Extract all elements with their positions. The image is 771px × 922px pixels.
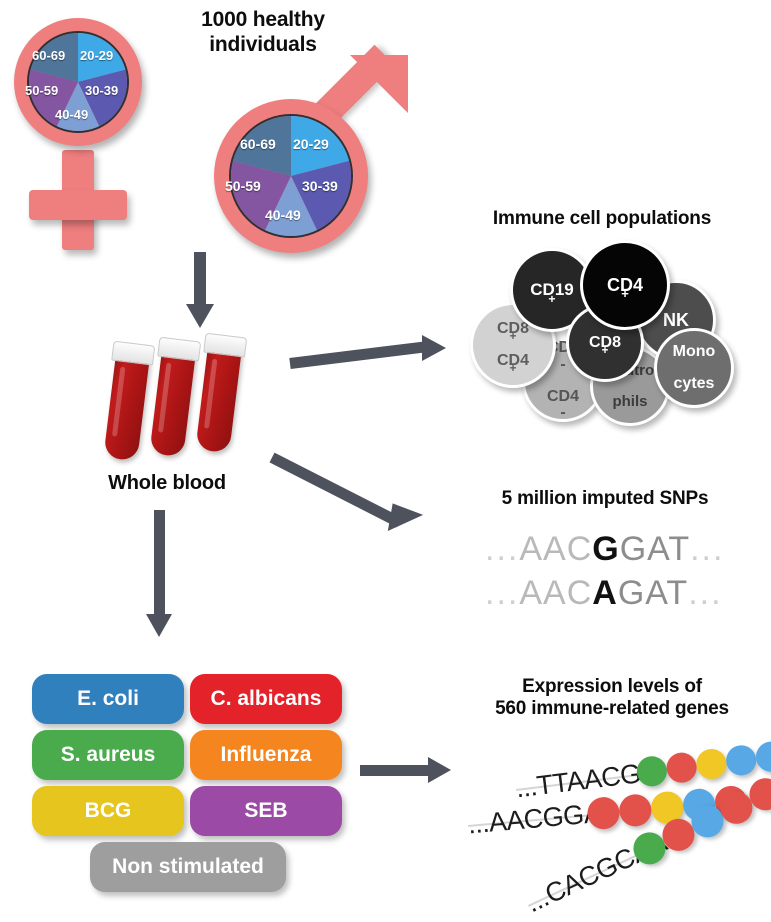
arrow-cohort-to-blood — [183, 252, 217, 328]
arrow-blood-to-snps — [272, 450, 462, 550]
cell-label-line2: CD4- — [547, 389, 579, 422]
cell-label-line1: Mono — [673, 344, 716, 360]
arrow-blood-to-stimuli — [140, 510, 180, 640]
pie-label-30-39: 30-39 — [85, 83, 118, 98]
cell-label: NK — [663, 311, 689, 329]
rna-bead — [618, 793, 653, 828]
figure-canvas: 1000 healthy individuals 20-29 30-39 40-… — [0, 0, 771, 922]
snp-trailing-ellipsis: ... — [690, 530, 724, 568]
blood-tube-body — [103, 354, 149, 461]
cell-label: CD19+ — [530, 281, 573, 298]
arrow-head — [422, 335, 446, 361]
pie-label-30-39: 30-39 — [302, 178, 338, 194]
stimulus-label: S. aureus — [61, 743, 156, 767]
strand-ellipsis: ... — [467, 808, 491, 840]
snp-trailing-ellipsis: ... — [688, 574, 722, 612]
pie-label-20-29: 20-29 — [293, 136, 329, 152]
arrow-head — [186, 304, 214, 328]
stimulus-box-seb[interactable]: SEB — [190, 786, 342, 836]
cell-circle-cd4: CD4+ — [580, 240, 670, 330]
stimulus-label: E. coli — [77, 687, 139, 711]
pie-label-40-49: 40-49 — [265, 207, 301, 223]
arrow-stimuli-to-expression — [360, 755, 470, 795]
stimulus-box-non-stimulated[interactable]: Non stimulated — [90, 842, 286, 892]
blood-tube-body — [149, 350, 195, 457]
pie-label-20-29: 20-29 — [80, 48, 113, 63]
whole-blood-tubes — [110, 340, 270, 470]
pie-label-60-69: 60-69 — [32, 48, 65, 63]
pie-label-40-49: 40-49 — [55, 107, 88, 122]
rna-bead — [695, 747, 728, 780]
snp-prefix: AAC — [519, 530, 592, 568]
rna-bead — [754, 740, 771, 773]
snps-section-title: 5 million imputed SNPs — [460, 488, 750, 510]
snp-prefix: AAC — [519, 574, 592, 612]
whole-blood-label: Whole blood — [72, 472, 262, 496]
snp-sequence-block: ...AACGGAT... ...AACAGAT... — [485, 530, 735, 620]
male-gender-symbol: 20-29 30-39 40-49 50-59 60-69 — [200, 55, 430, 255]
cell-label: CD4+ — [607, 276, 643, 294]
blood-tube-highlight — [112, 367, 125, 437]
stimuli-panel: E. coli C. albicans S. aureus Influenza … — [32, 674, 352, 900]
expression-section-title: Expression levels of 560 immune-related … — [462, 676, 762, 721]
immune-cell-cluster: CD19+ CD4+ CD8+ CD4+ CD8+ NK CD8- CD4- — [462, 240, 762, 410]
pie-label-50-59: 50-59 — [225, 178, 261, 194]
snp-suffix: GAT — [620, 530, 690, 568]
arrow-shaft — [360, 765, 432, 776]
cell-label-line2: phils — [606, 394, 654, 409]
title-line-1: 1000 healthy — [178, 8, 348, 33]
stimulus-label: SEB — [244, 799, 287, 823]
snp-leading-ellipsis: ... — [485, 574, 519, 612]
pie-label-50-59: 50-59 — [25, 83, 58, 98]
female-gender-symbol: 20-29 30-39 40-49 50-59 60-69 — [0, 10, 190, 260]
cell-label: Mono cytes — [673, 344, 716, 393]
blood-tube-body — [195, 346, 241, 453]
pie-label-60-69: 60-69 — [240, 136, 276, 152]
snp-sequence-row: ...AACGGAT... — [485, 530, 724, 569]
stimulus-label: BCG — [85, 799, 132, 823]
blood-tube-highlight — [204, 359, 217, 429]
snp-allele: G — [592, 530, 619, 568]
stimulus-label: Non stimulated — [112, 855, 264, 879]
arrow-shaft — [270, 453, 402, 528]
immune-section-title: Immune cell populations — [452, 208, 752, 230]
title-line-2: individuals — [178, 33, 348, 58]
arrow-head — [428, 757, 451, 783]
stimulus-box-influenza[interactable]: Influenza — [190, 730, 342, 780]
stimulus-box-s-aureus[interactable]: S. aureus — [32, 730, 184, 780]
rna-bead — [665, 751, 698, 784]
stimulus-box-c-albicans[interactable]: C. albicans — [190, 674, 342, 724]
arrow-head — [388, 503, 424, 536]
cell-label: CD8+ — [589, 335, 621, 351]
expression-title-line-2: 560 immune-related genes — [462, 698, 762, 720]
arrow-head — [146, 614, 172, 637]
expression-title-line-1: Expression levels of — [462, 676, 762, 698]
cell-label-line2: CD4+ — [497, 353, 529, 369]
cell-label-line2: cytes — [673, 376, 716, 392]
cell-label: CD8+ CD4+ — [497, 321, 529, 370]
stimulus-label: Influenza — [220, 743, 311, 767]
snp-sequence-row: ...AACAGAT... — [485, 574, 723, 613]
cell-circle-monocytes: Mono cytes — [654, 328, 734, 408]
stimulus-box-bcg[interactable]: BCG — [32, 786, 184, 836]
stimulus-label: C. albicans — [211, 687, 322, 711]
cell-label-line1: CD8+ — [497, 321, 529, 337]
snp-allele: A — [592, 574, 618, 612]
female-symbol-crossbar — [29, 190, 127, 220]
arrow-shaft — [194, 252, 206, 308]
arrow-shaft — [289, 341, 429, 369]
snp-leading-ellipsis: ... — [485, 530, 519, 568]
stimulus-box-e-coli[interactable]: E. coli — [32, 674, 184, 724]
arrow-shaft — [154, 510, 165, 618]
snp-suffix: GAT — [618, 574, 688, 612]
page-title: 1000 healthy individuals — [178, 8, 348, 58]
arrow-blood-to-immune — [290, 330, 460, 380]
blood-tube-highlight — [158, 363, 171, 433]
expression-strands: ...TTAACGG ...AACGGAT ...CACGCAA — [468, 740, 768, 920]
rna-bead — [724, 744, 757, 777]
